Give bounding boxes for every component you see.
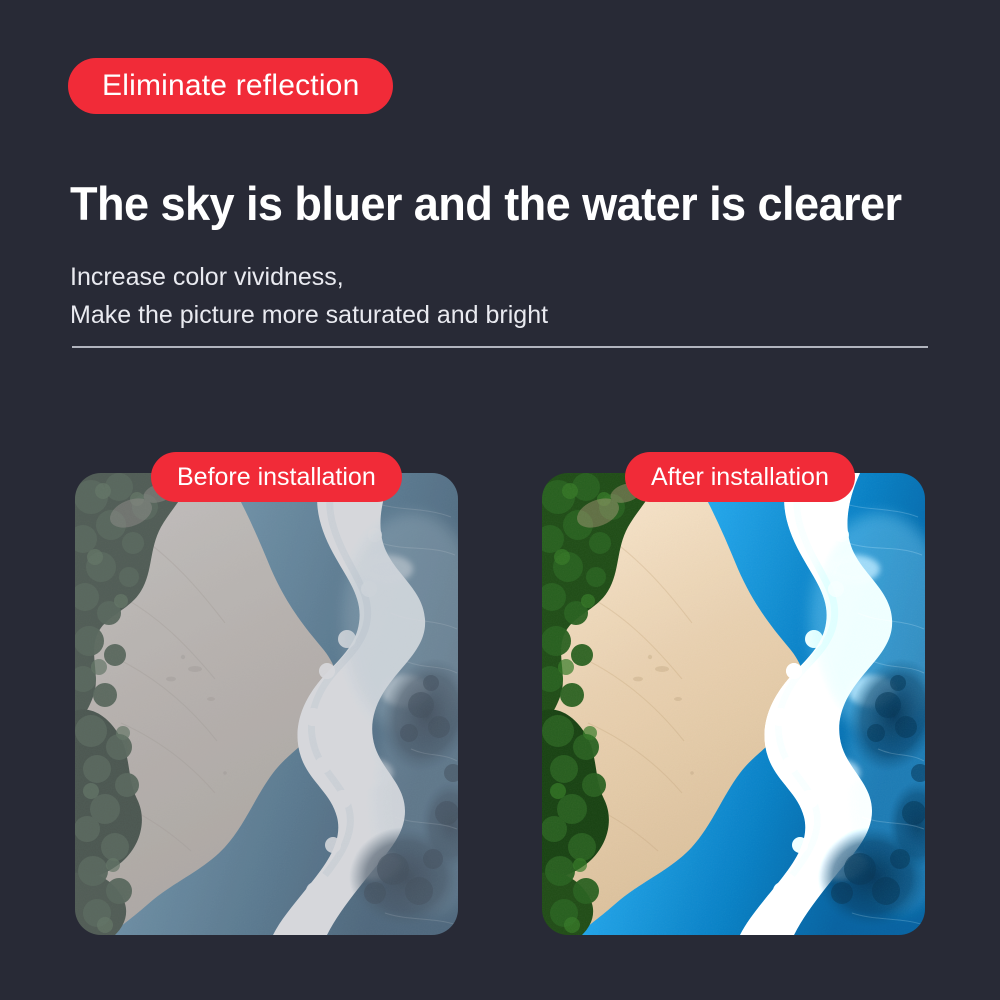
label-after-installation: After installation [625,452,855,502]
comparison-area: Before installation [0,0,1000,1000]
label-before-installation: Before installation [151,452,402,502]
panel-after-installation [542,473,925,935]
panel-before-installation [75,473,458,935]
beach-photo-before [75,473,458,935]
beach-photo-after [542,473,925,935]
